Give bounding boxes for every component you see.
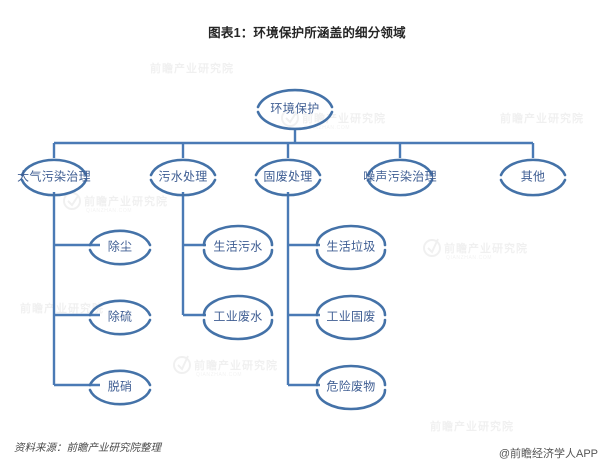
watermark-text: 前瞻产业研究院 xyxy=(194,357,278,373)
node-label-air: 大气污染治理 xyxy=(17,168,91,185)
watermark-subtext: QIANZHAN.COM xyxy=(196,372,242,378)
watermark-text: 前瞻产业研究院 xyxy=(444,240,528,256)
watermark-text: 前瞻产业研究院 xyxy=(430,418,514,434)
watermark-text: 前瞻产业研究院 xyxy=(20,300,104,316)
node-label-tuoxiao: 脱硝 xyxy=(108,378,133,395)
watermark-layer xyxy=(0,0,614,475)
node-label-water: 污水处理 xyxy=(158,168,207,185)
watermark-text: 前瞻产业研究院 xyxy=(150,60,234,76)
node-label-root: 环境保护 xyxy=(270,100,319,117)
connector-lines xyxy=(0,0,614,475)
watermark-text: 前瞻产业研究院 xyxy=(500,110,584,126)
node-label-chuliu: 除硫 xyxy=(108,308,133,325)
watermark-logo-layer xyxy=(0,0,614,475)
node-label-noise: 噪声污染治理 xyxy=(363,168,437,185)
watermark-text: 前瞻产业研究院 xyxy=(84,193,168,209)
chart-canvas: 图表1：环境保护所涵盖的细分领域 xyxy=(0,0,614,475)
node-label-solid: 固废处理 xyxy=(263,168,312,185)
watermark-subtext: QIANZHAN.COM xyxy=(304,125,350,131)
source-note: 资料来源：前瞻产业研究院整理 xyxy=(14,440,161,455)
node-label-shenghuowushui: 生活污水 xyxy=(213,238,262,255)
node-shapes xyxy=(0,0,614,475)
chart-title: 图表1：环境保护所涵盖的细分领域 xyxy=(0,22,614,41)
node-label-gongyegufei: 工业固废 xyxy=(326,308,375,325)
watermark-subtext: QIANZHAN.COM xyxy=(446,255,492,261)
brand-credit: @前瞻经济学人APP xyxy=(499,445,598,461)
node-label-gongyefeishui: 工业废水 xyxy=(213,308,262,325)
node-label-shenghuolaji: 生活垃圾 xyxy=(326,238,375,255)
node-label-chuchen: 除尘 xyxy=(108,238,133,255)
node-label-other: 其他 xyxy=(521,168,546,185)
node-label-weixianfeiwu: 危险废物 xyxy=(326,378,375,395)
watermark-subtext: QIANZHAN.COM xyxy=(86,208,132,214)
